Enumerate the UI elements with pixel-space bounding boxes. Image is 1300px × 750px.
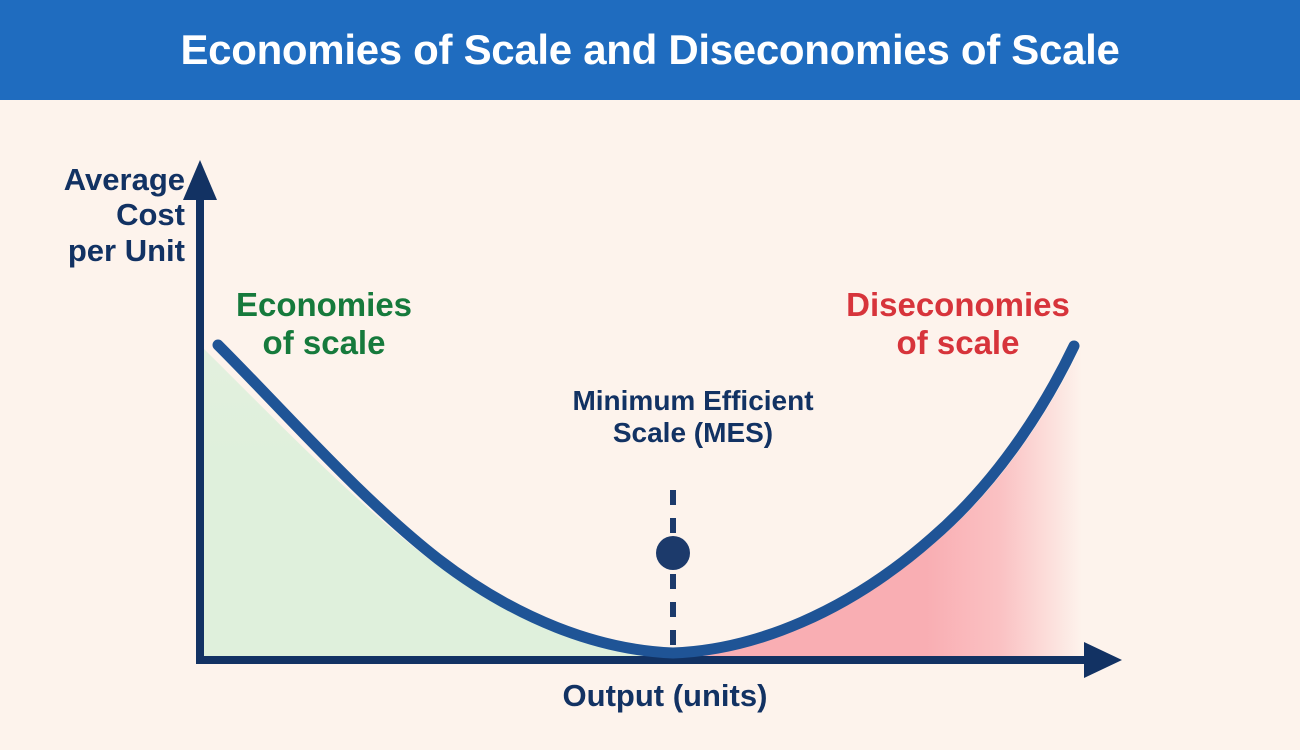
chart-page: Economies of Scale and Diseconomies of S…: [0, 0, 1300, 750]
average-cost-curve-chart: [0, 100, 1300, 750]
y-axis-arrowhead: [183, 160, 217, 200]
x-axis-arrowhead: [1084, 642, 1122, 678]
page-title: Economies of Scale and Diseconomies of S…: [180, 29, 1119, 71]
mes-point-marker: [656, 536, 690, 570]
chart-plot-area: Average Cost per Unit Economies of scale…: [0, 100, 1300, 750]
header-banner: Economies of Scale and Diseconomies of S…: [0, 0, 1300, 100]
diseconomies-region-fill: [673, 345, 1082, 660]
